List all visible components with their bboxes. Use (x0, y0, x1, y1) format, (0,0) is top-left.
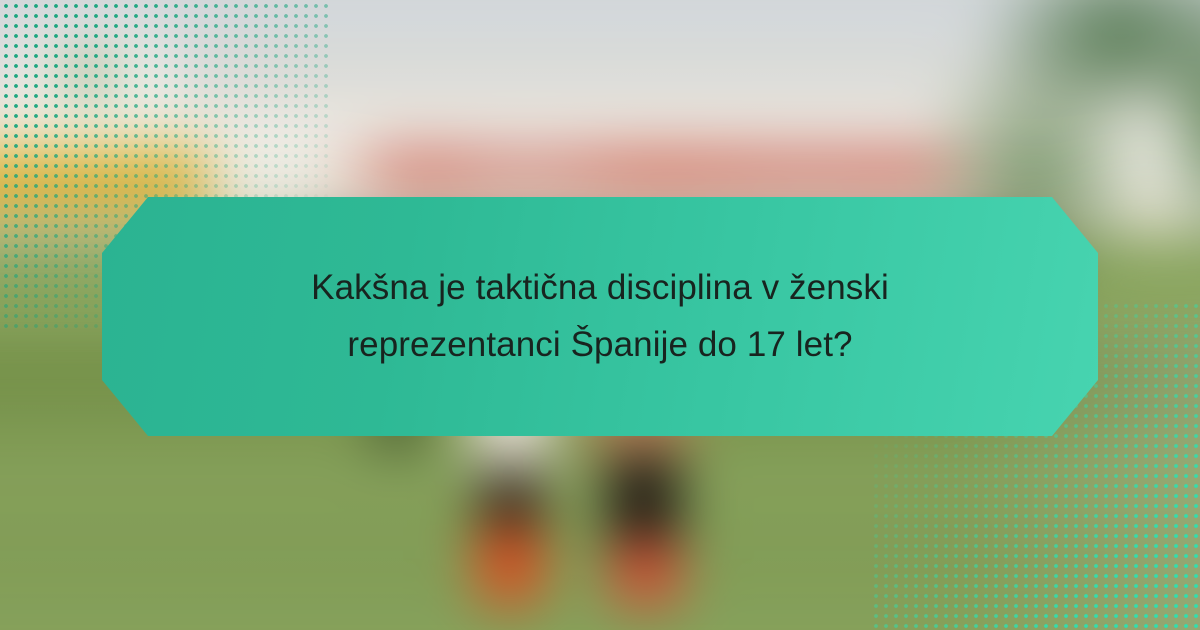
title-banner: Kakšna je taktična disciplina v ženski r… (102, 197, 1098, 436)
share-card-canvas: Kakšna je taktična disciplina v ženski r… (0, 0, 1200, 630)
photo-player-sock-right (608, 454, 678, 552)
page-title: Kakšna je taktična disciplina v ženski r… (184, 260, 1016, 373)
photo-sign (23, 40, 161, 110)
photo-player-boot-right (611, 539, 681, 607)
photo-player-boot-left (477, 524, 543, 607)
